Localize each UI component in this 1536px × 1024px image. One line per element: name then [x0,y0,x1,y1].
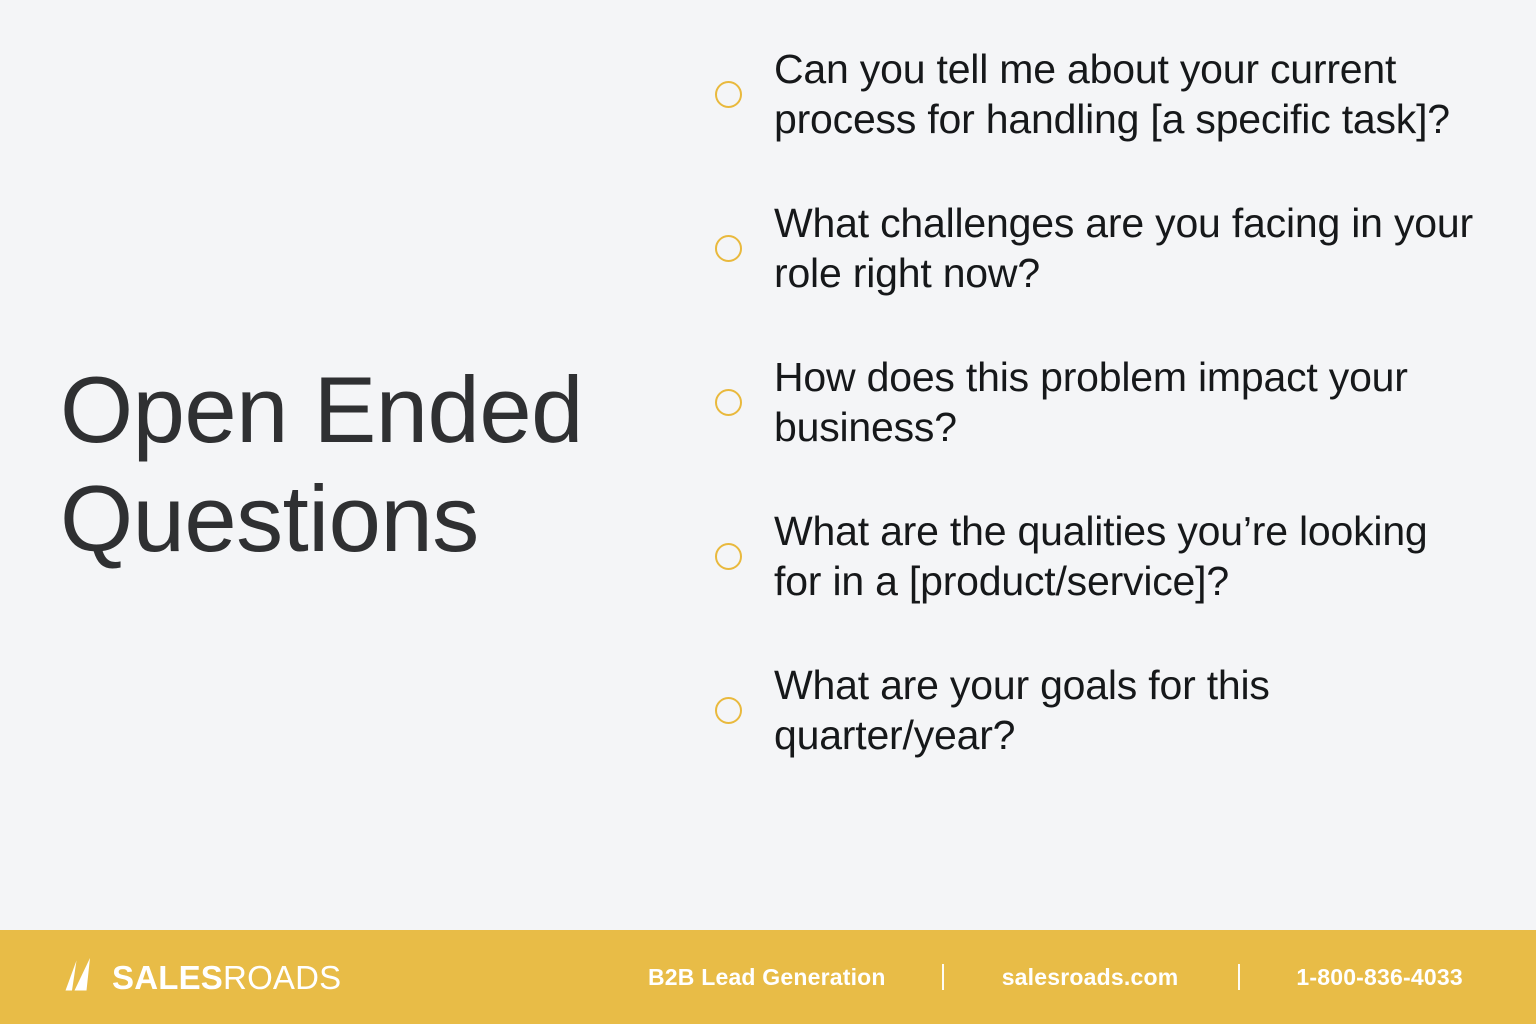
footer-meta: B2B Lead Generation salesroads.com 1-800… [648,930,1463,1024]
footer-separator [942,964,944,990]
circle-outline-icon [715,235,742,262]
question-text: How does this problem impact your busine… [774,352,1485,452]
questions-list: Can you tell me about your current proce… [715,44,1485,894]
brand-name-bold: SALES [112,959,223,996]
list-item: Can you tell me about your current proce… [715,44,1485,144]
title-block: Open Ended Questions [60,355,700,573]
brand-logo: SALESROADS [56,930,341,1024]
circle-outline-icon [715,81,742,108]
footer-tagline: B2B Lead Generation [648,964,886,991]
question-text: What challenges are you facing in your r… [774,198,1485,298]
brand-name-light: ROADS [223,959,341,996]
list-item: How does this problem impact your busine… [715,352,1485,452]
slide-canvas: Open Ended Questions Can you tell me abo… [0,0,1536,1024]
question-text: What are the qualities you’re looking fo… [774,506,1485,606]
circle-outline-icon [715,389,742,416]
footer-phone[interactable]: 1-800-836-4033 [1296,964,1462,991]
footer-website[interactable]: salesroads.com [1002,964,1179,991]
question-text: What are your goals for this quarter/yea… [774,660,1485,760]
page-title: Open Ended Questions [60,355,700,573]
brand-name: SALESROADS [112,961,341,994]
list-item: What are the qualities you’re looking fo… [715,506,1485,606]
footer-separator [1238,964,1240,990]
footer-bar: SALESROADS B2B Lead Generation salesroad… [0,930,1536,1024]
list-item: What challenges are you facing in your r… [715,198,1485,298]
circle-outline-icon [715,543,742,570]
sail-logo-icon [56,954,102,1000]
circle-outline-icon [715,697,742,724]
question-text: Can you tell me about your current proce… [774,44,1485,144]
list-item: What are your goals for this quarter/yea… [715,660,1485,760]
